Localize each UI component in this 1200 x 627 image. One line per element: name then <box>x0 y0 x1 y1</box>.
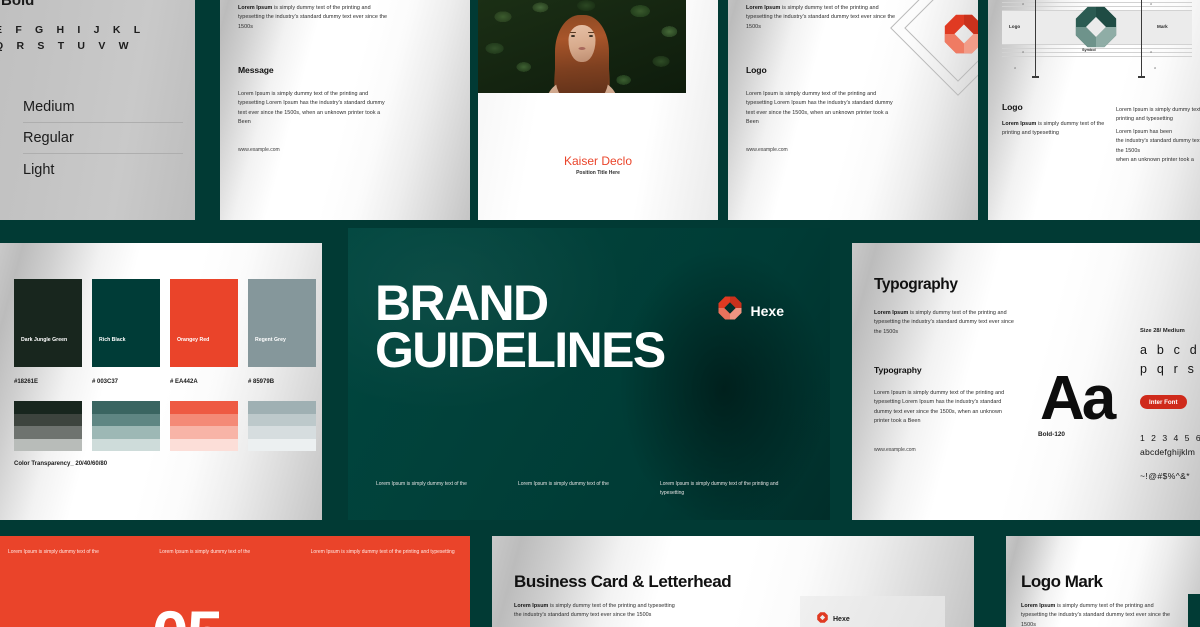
alphabet-row-2: Q R S T U V W <box>0 40 134 52</box>
slide-logo-mark[interactable]: Logo Mark Lorem Ipsum is simply dummy te… <box>1006 536 1200 627</box>
color-swatch-name: Orangey Red <box>177 337 209 343</box>
logo-mark-intro: Lorem Ipsum is simply dummy text of the … <box>1021 602 1181 627</box>
type-alphabet-row-1: a b c d e <box>1140 343 1200 357</box>
color-hex-label: #18261E <box>14 379 38 385</box>
profile-position: Position Title Here <box>478 170 718 176</box>
transparency-step <box>248 401 316 414</box>
typography-url[interactable]: www.example.com <box>874 447 1014 453</box>
red-footnote-3: Lorem Ipsum is simply dummy text of the … <box>311 548 462 557</box>
cover-footnote-2: Lorem Ipsum is simply dummy text of the <box>518 480 660 499</box>
type-symbols: ~!@#$%^&* <box>1140 471 1190 481</box>
bold-heading: Bold <box>1 0 34 9</box>
type-specimen-label: Bold-120 <box>1038 431 1065 438</box>
slide-red-divider[interactable]: Lorem Ipsum is simply dummy text of the … <box>0 536 470 627</box>
transparency-step <box>170 401 238 414</box>
message-intro: Lorem Ipsum is simply dummy text of the … <box>238 4 388 32</box>
logo-grid-sub-bold: Lorem Ipsum <box>1002 121 1036 127</box>
business-card-heading: Business Card & Letterhead <box>514 572 731 592</box>
typography-body: Lorem Ipsum is simply dummy text of the … <box>874 389 1014 427</box>
weight-item-medium[interactable]: Medium <box>23 92 183 123</box>
type-lowercase: abcdefghijklm <box>1140 447 1195 457</box>
profile-name: Kaiser Declo <box>478 154 718 168</box>
color-swatch[interactable]: Dark Jungle Green <box>14 279 82 367</box>
transparency-step <box>92 414 160 427</box>
portrait-figure <box>545 15 619 93</box>
cover-title: BRAND GUIDELINES <box>375 280 665 373</box>
logo-url[interactable]: www.example.com <box>746 147 896 153</box>
font-name-badge[interactable]: Inter Font <box>1140 395 1187 409</box>
grid-tick: a <box>1150 2 1152 6</box>
lm-intro-bold: Lorem Ipsum <box>1021 603 1055 609</box>
grid-tick: a <box>1022 50 1024 54</box>
alphabet-row-1: E F G H I J K L <box>0 24 145 36</box>
typography-heading: Typography <box>874 276 958 294</box>
logo-heading: Logo <box>746 65 896 75</box>
hexe-logo-icon-green <box>1075 6 1117 53</box>
message-body: Lorem Ipsum is simply dummy text of the … <box>238 90 388 128</box>
color-transparency-stack <box>170 401 238 451</box>
slide-logo[interactable]: Lorem Ipsum is simply dummy text of the … <box>728 0 978 220</box>
message-intro-bold: Lorem Ipsum <box>238 5 272 11</box>
transparency-step <box>248 426 316 439</box>
color-hex-label: # EA442A <box>170 379 198 385</box>
logo-mark-green-swatch <box>1188 594 1200 627</box>
hexe-logo-icon-red <box>944 14 978 54</box>
transparency-step <box>92 401 160 414</box>
typography-intro-bold: Lorem Ipsum <box>874 310 908 316</box>
logo-intro-bold: Lorem Ipsum <box>746 5 780 11</box>
weight-item-light[interactable]: Light <box>23 154 183 185</box>
typography-intro: Lorem Ipsum is simply dummy text of the … <box>874 309 1014 337</box>
slide-logo-grid[interactable]: Logo Mark Symbol B a a a a a a a a <box>988 0 1200 220</box>
slide-message[interactable]: Lorem Ipsum is simply dummy text of the … <box>220 0 470 220</box>
hexe-logo-icon-card <box>817 610 828 627</box>
red-footnote-1: Lorem Ipsum is simply dummy text of the <box>8 548 159 557</box>
transparency-step <box>14 401 82 414</box>
color-swatch[interactable]: Rich Black <box>92 279 160 367</box>
transparency-step <box>170 439 238 452</box>
color-hex-label: # 003C37 <box>92 379 118 385</box>
transparency-step <box>92 426 160 439</box>
note2-line1: Lorem Ipsum has been <box>1116 129 1172 135</box>
logo-intro: Lorem Ipsum is simply dummy text of the … <box>746 4 896 32</box>
slide-cover[interactable]: BRAND GUIDELINES <box>348 228 830 520</box>
color-swatch-name: Regent Grey <box>255 337 286 343</box>
type-alphabet-row-2: p q r s t u <box>1140 362 1200 376</box>
grid-tick: a <box>1150 50 1152 54</box>
page-number: 05 <box>152 596 221 627</box>
note2-line2: the industry's standard dummy text ever … <box>1116 138 1200 153</box>
color-swatch-name: Dark Jungle Green <box>21 337 67 343</box>
grid-tick: a <box>1022 2 1024 6</box>
color-swatch-name: Rich Black <box>99 337 126 343</box>
grid-tick: a <box>1154 66 1156 70</box>
transparency-step <box>170 426 238 439</box>
type-numerals: 1 2 3 4 5 6 7 <box>1140 433 1200 443</box>
slide-profile[interactable]: Kaiser Declo Position Title Here <box>478 0 718 220</box>
palette-root: Dark Jungle Green#18261ERich Black# 003C… <box>0 243 322 520</box>
type-size-label: Size 28/ Medium <box>1140 328 1185 334</box>
slide-color-palette[interactable]: Dark Jungle Green#18261ERich Black# 003C… <box>0 243 322 520</box>
cover-brand-name: Hexe <box>751 303 784 319</box>
cover-footnote-1: Lorem Ipsum is simply dummy text of the <box>376 480 518 499</box>
logo-measurement-grid: Logo Mark Symbol B a a a a a a a a <box>1002 0 1192 78</box>
color-transparency-label: Color Transparency_ 20/40/60/80 <box>14 461 107 467</box>
card-brand-name: Hexe <box>833 616 850 623</box>
weight-list: Medium Regular Light <box>23 92 183 185</box>
transparency-step <box>92 439 160 452</box>
type-specimen: Aa <box>1040 363 1113 434</box>
logo-body: Lorem Ipsum is simply dummy text of the … <box>746 90 896 128</box>
slide-type-weights[interactable]: Bold E F G H I J K L Q R S T U V W Mediu… <box>0 0 195 220</box>
note2-line3: when an unknown printer took a <box>1116 157 1194 163</box>
hexe-logo-icon-cover <box>718 296 742 325</box>
slide-business-card[interactable]: Business Card & Letterhead Lorem Ipsum i… <box>492 536 974 627</box>
transparency-step <box>14 414 82 427</box>
profile-photo <box>478 0 686 93</box>
color-transparency-stack <box>248 401 316 451</box>
color-transparency-stack <box>92 401 160 451</box>
card-brand-lockup: Hexe <box>817 610 850 627</box>
color-swatch[interactable]: Regent Grey <box>248 279 316 367</box>
grid-label-right: Mark <box>1157 24 1168 29</box>
slide-typography[interactable]: Typography Lorem Ipsum is simply dummy t… <box>852 243 1200 520</box>
typography-subheading: Typography <box>874 365 1014 375</box>
logo-grid-note-2: Lorem Ipsum has been the industry's stan… <box>1116 128 1200 166</box>
transparency-step <box>14 439 82 452</box>
logo-grid-note-1: Lorem Ipsum is simply dummy text of the … <box>1116 106 1200 125</box>
red-footnotes: Lorem Ipsum is simply dummy text of the … <box>0 548 470 557</box>
cover-footnote-3: Lorem Ipsum is simply dummy text of the … <box>660 480 802 499</box>
message-url[interactable]: www.example.com <box>238 147 388 153</box>
logo-grid-sub: Lorem Ipsum is simply dummy text of the … <box>1002 120 1112 139</box>
bc-intro-bold: Lorem Ipsum <box>514 603 548 609</box>
transparency-step <box>248 439 316 452</box>
weight-item-regular[interactable]: Regular <box>23 123 183 154</box>
transparency-step <box>14 426 82 439</box>
color-hex-label: # 85979B <box>248 379 274 385</box>
transparency-step <box>170 414 238 427</box>
logo-mark-heading: Logo Mark <box>1021 572 1102 592</box>
grid-tick: a <box>1014 66 1016 70</box>
cover-brand-lockup: Hexe <box>718 296 784 325</box>
message-heading: Message <box>238 65 388 75</box>
business-card-mockup: Hexe <box>800 596 945 627</box>
cover-footnotes: Lorem Ipsum is simply dummy text of the … <box>348 480 830 499</box>
brand-guidelines-collage: Bold E F G H I J K L Q R S T U V W Mediu… <box>0 0 1200 627</box>
transparency-step <box>248 414 316 427</box>
color-swatch[interactable]: Orangey Red <box>170 279 238 367</box>
red-footnote-2: Lorem Ipsum is simply dummy text of the <box>159 548 310 557</box>
grid-label-left: Logo <box>1009 24 1020 29</box>
cover-title-line2: GUIDELINES <box>375 322 665 378</box>
business-card-intro: Lorem Ipsum is simply dummy text of the … <box>514 602 679 621</box>
color-transparency-stack <box>14 401 82 451</box>
logo-diamond-construction <box>904 0 978 94</box>
